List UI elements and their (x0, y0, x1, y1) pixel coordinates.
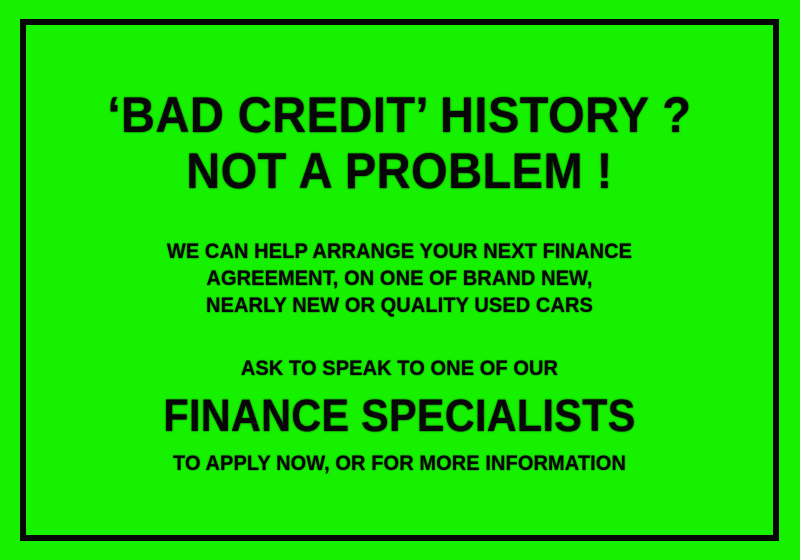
headline-block: ‘BAD CREDIT’ HISTORY ? NOT A PROBLEM ! (26, 87, 773, 199)
call-to-action-headline: FINANCE SPECIALISTS (56, 388, 743, 444)
call-to-action-footer: TO APPLY NOW, OR FOR MORE INFORMATION (52, 450, 747, 476)
call-to-action-intro: ASK TO SPEAK TO ONE OF OUR (52, 355, 747, 381)
description-line-2: AGREEMENT, ON ONE OF BRAND NEW, (52, 265, 747, 292)
headline-line-2: NOT A PROBLEM ! (48, 143, 750, 199)
call-to-action-block: ASK TO SPEAK TO ONE OF OUR FINANCE SPECI… (26, 355, 773, 476)
description-block: WE CAN HELP ARRANGE YOUR NEXT FINANCE AG… (26, 238, 773, 319)
description-line-3: NEARLY NEW OR QUALITY USED CARS (52, 292, 747, 319)
advertisement-poster: ‘BAD CREDIT’ HISTORY ? NOT A PROBLEM ! W… (0, 0, 800, 560)
description-line-1: WE CAN HELP ARRANGE YOUR NEXT FINANCE (52, 238, 747, 265)
headline-line-1: ‘BAD CREDIT’ HISTORY ? (48, 87, 750, 143)
poster-content: ‘BAD CREDIT’ HISTORY ? NOT A PROBLEM ! W… (26, 25, 773, 535)
